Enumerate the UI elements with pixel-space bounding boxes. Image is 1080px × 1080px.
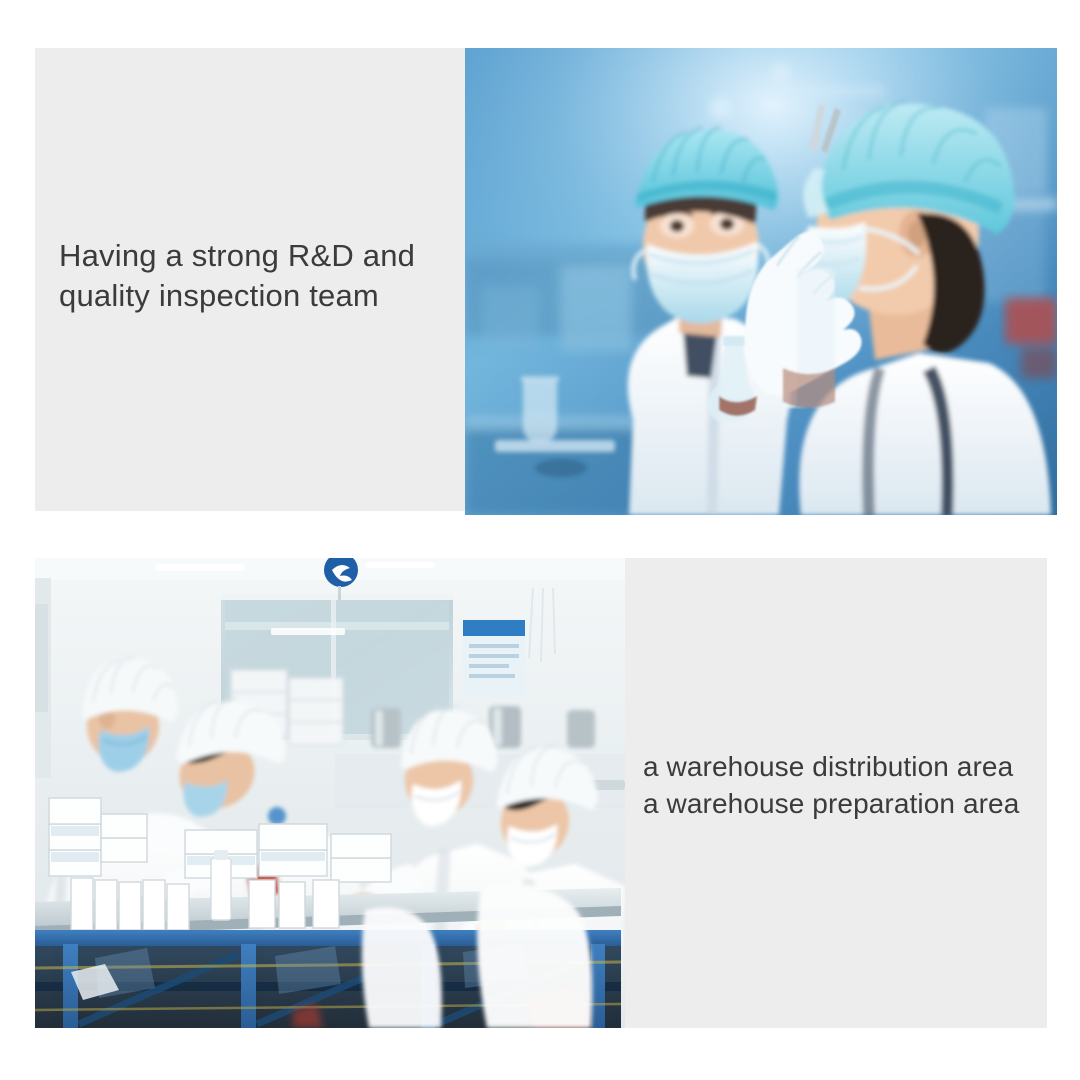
top-caption-text: Having a strong R&D and quality inspecti… bbox=[59, 236, 454, 315]
top-section: Having a strong R&D and quality inspecti… bbox=[35, 48, 1057, 515]
page-root: Having a strong R&D and quality inspecti… bbox=[0, 0, 1080, 1080]
top-caption-panel: Having a strong R&D and quality inspecti… bbox=[35, 48, 465, 511]
bottom-caption-panel: a warehouse distribution area a warehous… bbox=[625, 558, 1047, 1028]
bottom-section: a warehouse distribution area a warehous… bbox=[35, 558, 1047, 1028]
bottom-caption-text: a warehouse distribution area a warehous… bbox=[643, 748, 1047, 822]
lab-scene-illustration bbox=[465, 48, 1057, 515]
lab-rnd-quality-inspection-photo bbox=[465, 48, 1057, 515]
warehouse-scene-illustration bbox=[35, 558, 625, 1028]
warehouse-packing-area-photo bbox=[35, 558, 625, 1028]
